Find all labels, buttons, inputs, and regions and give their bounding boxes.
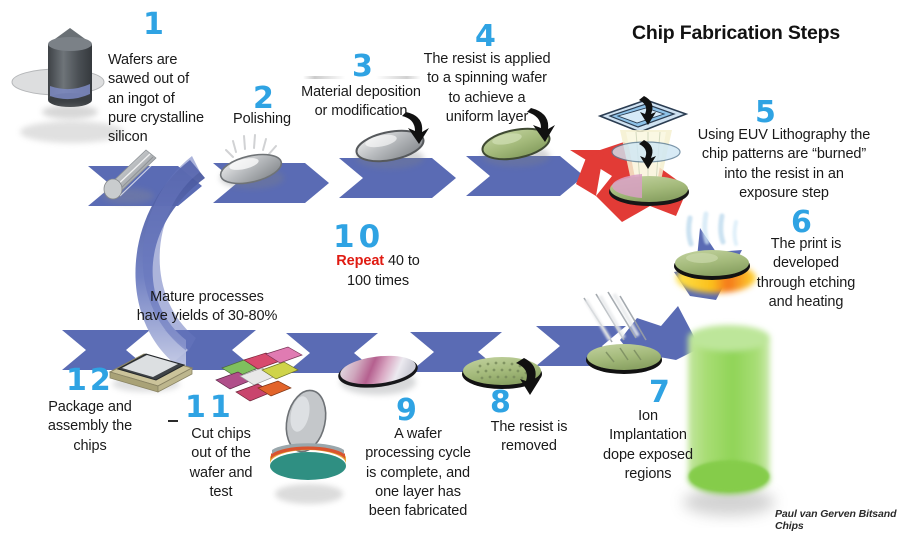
yield-note: Mature processes have yields of 30-80% — [118, 288, 296, 327]
step-number-7: 7 — [649, 378, 671, 408]
step-number-9: 9 — [396, 396, 418, 426]
euv-lithography-icon — [600, 96, 689, 206]
repeat-note: Repeat 40 to 100 times — [298, 252, 458, 291]
step-caption-9: A wafer processing cycle is complete, an… — [358, 425, 478, 521]
repeat-keyword: Repeat — [336, 253, 384, 269]
step-number-3: 3 — [352, 52, 374, 82]
step-caption-11: Cut chips out of the wafer and test — [180, 425, 262, 502]
step-number-10: 10 — [333, 222, 384, 253]
step-number-6: 6 — [791, 208, 813, 238]
step-caption-1: Wafers are sawed out of an ingot of pure… — [108, 51, 230, 147]
step-caption-12: Package and assembly the chips — [38, 398, 142, 456]
step-caption-5: Using EUV Lithography the chip patterns … — [688, 126, 880, 203]
step-number-8: 8 — [490, 388, 512, 418]
diagram-canvas: Chip Fabrication Steps Paul van Gerven B… — [0, 0, 914, 533]
step-caption-7: Ion Implantation dope exposed regions — [592, 407, 704, 484]
step-number-11: 11 — [185, 393, 235, 423]
step-number-1: 1 — [143, 10, 165, 40]
step-caption-8: The resist is removed — [478, 418, 580, 457]
page-title: Chip Fabrication Steps — [632, 22, 840, 45]
dash-artifact — [168, 420, 178, 422]
step-caption-4: The resist is applied to a spinning wafe… — [413, 50, 561, 127]
step-caption-6: The print is developed through etching a… — [750, 235, 862, 312]
credit-attribution: Paul van Gerven Bitsand Chips — [775, 508, 914, 532]
step-number-12: 12 — [66, 366, 114, 396]
etching-wafer-icon — [674, 214, 756, 293]
step-number-4: 4 — [475, 22, 497, 52]
step-number-5: 5 — [755, 98, 777, 128]
